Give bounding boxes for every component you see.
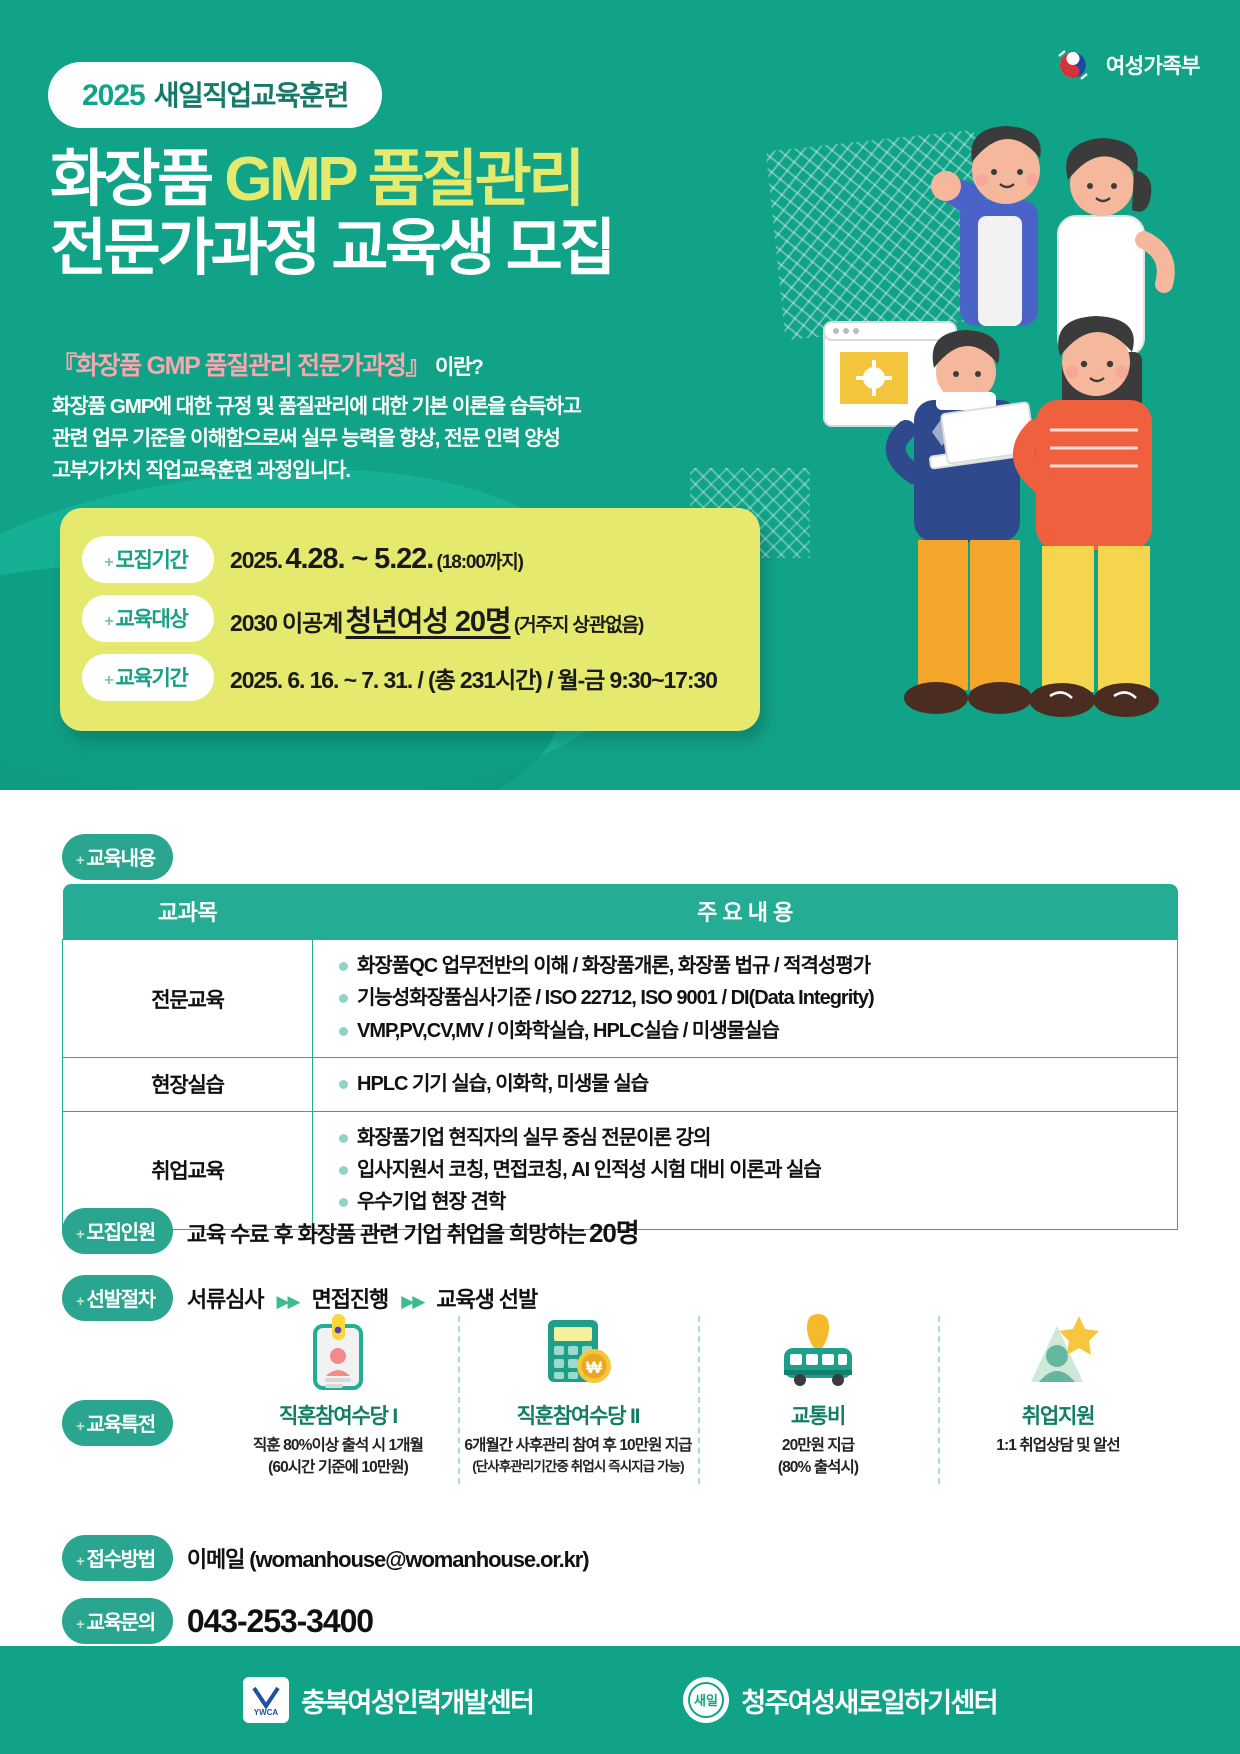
key-info-box: +모집기간 2025. 4.28. ~ 5.22. (18:00까지) +교육대… (60, 508, 760, 731)
info-value-recruit-period: 2025. 4.28. ~ 5.22. (18:00까지) (230, 543, 523, 576)
benefit-description: 1:1 취업상담 및 알선 (996, 1435, 1119, 1457)
list-item: VMP,PV,CV,MV / 이화학실습, HPLC실습 / 미생물실습 (337, 1015, 1177, 1047)
benefits-grid: 직훈참여수당 I 직훈 80%이상 출석 시 1개월 (60시간 기준에 10만… (218, 1312, 1178, 1502)
saeil-center-logo-icon: 새일 (683, 1677, 729, 1723)
apply-method-value: 이메일 (womanhouse@womanhouse.or.kr) (187, 1542, 589, 1574)
plus-icon: + (76, 1616, 83, 1633)
ministry-logo-group: 여성가족부 (1050, 42, 1200, 88)
table-header-subject: 교과목 (63, 884, 313, 940)
info-row-training-period: +교육기간 2025. 6. 16. ~ 7. 31. / (총 231시간) … (60, 648, 760, 707)
intro-question: 『화장품 GMP 품질관리 전문가과정』 이란? (52, 346, 483, 382)
intro-body: 화장품 GMP에 대한 규정 및 품질관리에 대한 기본 이론을 습득하고 관련… (52, 391, 581, 486)
info-row-target: +교육대상 2030 이공계 청년여성 20명 (거주지 상관없음) (60, 589, 760, 648)
benefit-item: ₩ 직훈참여수당 II 6개월간 사후관리 참여 후 10만원 지급 (단사후관… (458, 1312, 698, 1502)
benefit-desc-line-2: (80% 출석시) (778, 1457, 858, 1479)
table-header-content: 주 요 내 용 (313, 884, 1178, 940)
intro-question-highlight: 『화장품 GMP 품질관리 전문가과정』 (52, 352, 429, 380)
apply-method-row: +접수방법 이메일 (womanhouse@womanhouse.or.kr) (62, 1535, 588, 1581)
title-line-1-yellow: GMP 품질관리 (224, 145, 582, 214)
benefit-desc-line-1: 20만원 지급 (778, 1435, 858, 1457)
recruit-count-text: 교육 수료 후 화장품 관련 기업 취업을 희망하는 (187, 1222, 586, 1247)
footer-org-1: YWCA 충북여성인력개발센터 (243, 1677, 533, 1723)
recruit-count-row: +모집인원 교육 수료 후 화장품 관련 기업 취업을 희망하는 20명 (62, 1208, 639, 1254)
info-part-note: (거주지 상관없음) (514, 615, 643, 636)
info-chip-label: 교육기간 (115, 667, 187, 690)
table-cell-content: HPLC 기기 실습, 이화학, 미생물 실습 (313, 1058, 1178, 1111)
info-part-prefix: 2025. 6. 16. ~ 7. 31. / (총 231시간) / 월-금 … (230, 667, 717, 693)
person-star-badge-icon (1017, 1312, 1099, 1390)
benefit-desc-line-2: (단사후관리기간중 취업시 즉시지급 가능) (464, 1457, 691, 1476)
plus-icon: + (76, 1553, 83, 1570)
table-header-row: 교과목 주 요 내 용 (63, 884, 1178, 940)
intro-body-line-1: 화장품 GMP에 대한 규정 및 품질관리에 대한 기본 이론을 습득하고 (52, 391, 581, 423)
intro-question-suffix: 이란? (435, 356, 483, 379)
title-line-2: 전문가과정 교육생 모집 (50, 214, 613, 283)
plus-icon: + (76, 1293, 83, 1310)
info-value-training-period: 2025. 6. 16. ~ 7. 31. / (총 231시간) / 월-금 … (230, 661, 717, 695)
benefit-title: 직훈참여수당 II (517, 1400, 640, 1430)
poster-root: 여성가족부 2025 새일직업교육훈련 화장품 GMP 품질관리 전문가과정 교… (0, 0, 1240, 1754)
svg-text:₩: ₩ (586, 1358, 603, 1377)
section-chip-label: 모집인원 (86, 1222, 154, 1244)
table-row: 전문교육 화장품QC 업무전반의 이해 / 화장품개론, 화장품 법규 / 적격… (63, 940, 1178, 1058)
intro-body-line-3: 고부가가치 직업교육훈련 과정입니다. (52, 455, 581, 487)
section-chip-label: 교육내용 (86, 848, 154, 870)
footer-org-2: 새일 청주여성새로일하기센터 (683, 1677, 997, 1723)
benefit-desc-line-1: 직훈 80%이상 출석 시 1개월 (253, 1435, 423, 1457)
title-line-1: 화장품 GMP 품질관리 (50, 145, 613, 214)
benefit-description: 6개월간 사후관리 참여 후 10만원 지급 (단사후관리기간중 취업시 즉시지… (464, 1435, 691, 1476)
plus-icon: + (76, 852, 83, 869)
info-part-emphasis: 4.28. ~ 5.22. (285, 543, 433, 575)
selection-step-3: 교육생 선발 (436, 1287, 537, 1312)
selection-step-1: 서류심사 (187, 1287, 264, 1312)
intro-body-line-2: 관련 업무 기준을 이해함으로써 실무 능력을 향상, 전문 인력 양성 (52, 423, 581, 455)
section-chip-label: 교육문의 (86, 1612, 154, 1634)
curriculum-table: 교과목 주 요 내 용 전문교육 화장품QC 업무전반의 이해 / 화장품개론,… (62, 884, 1178, 1230)
section-chip-benefits: +교육특전 (62, 1400, 173, 1446)
plus-icon: + (104, 554, 112, 571)
plus-icon: + (104, 672, 112, 689)
svg-text:YWCA: YWCA (254, 1708, 279, 1717)
year-badge-year: 2025 (82, 79, 145, 113)
plus-icon: + (104, 613, 112, 630)
benefit-title: 직훈참여수당 I (279, 1400, 397, 1430)
table-cell-subject: 현장실습 (63, 1058, 313, 1111)
info-chip-training-period: +교육기간 (82, 654, 214, 701)
benefit-description: 직훈 80%이상 출석 시 1개월 (60시간 기준에 10만원) (253, 1435, 423, 1479)
year-badge: 2025 새일직업교육훈련 (48, 62, 382, 128)
info-chip-label: 교육대상 (115, 608, 187, 631)
svg-text:새일: 새일 (694, 1693, 718, 1708)
footer-org-name: 청주여성새로일하기센터 (741, 1681, 997, 1720)
benefit-item: 교통비 20만원 지급 (80% 출석시) (698, 1312, 938, 1502)
section-chip-label: 선발절차 (86, 1289, 154, 1311)
ministry-name: 여성가족부 (1106, 50, 1200, 80)
info-part-emphasis: 청년여성 20명 (346, 606, 511, 638)
info-chip-label: 모집기간 (115, 549, 187, 572)
contact-row: +교육문의 043-253-3400 (62, 1598, 373, 1644)
section-chip-recruit-count: +모집인원 (62, 1208, 173, 1254)
footer-org-name: 충북여성인력개발센터 (301, 1681, 533, 1720)
benefit-desc-line-2: (60시간 기준에 10만원) (253, 1457, 423, 1479)
info-part-note: (18:00까지) (437, 552, 523, 573)
title-line-1-white: 화장품 (50, 145, 211, 214)
benefit-item: 직훈참여수당 I 직훈 80%이상 출석 시 1개월 (60시간 기준에 10만… (218, 1312, 458, 1502)
double-chevron-right-icon: ▶▶ (401, 1292, 423, 1311)
info-value-target: 2030 이공계 청년여성 20명 (거주지 상관없음) (230, 598, 643, 640)
benefit-desc-line-1: 1:1 취업상담 및 알선 (996, 1435, 1119, 1457)
people-illustration (810, 100, 1230, 740)
recruit-count-value: 교육 수료 후 화장품 관련 기업 취업을 희망하는 20명 (187, 1213, 639, 1250)
plus-icon: + (76, 1226, 83, 1243)
info-chip-target: +교육대상 (82, 595, 214, 642)
section-chip-label: 접수방법 (86, 1549, 154, 1571)
list-item: 화장품기업 현직자의 실무 중심 전문이론 강의 (337, 1122, 1177, 1154)
recruit-count-number: 20명 (589, 1218, 639, 1248)
benefit-description: 20만원 지급 (80% 출석시) (778, 1435, 858, 1479)
selection-steps: 서류심사 ▶▶ 면접진행 ▶▶ 교육생 선발 (187, 1282, 537, 1314)
info-part-prefix: 2030 이공계 (230, 610, 342, 636)
section-chip-contact: +교육문의 (62, 1598, 173, 1644)
list-item: 화장품QC 업무전반의 이해 / 화장품개론, 화장품 법규 / 적격성평가 (337, 950, 1177, 982)
table-cell-content: 화장품QC 업무전반의 이해 / 화장품개론, 화장품 법규 / 적격성평가 기… (313, 940, 1178, 1058)
footer-panel: YWCA 충북여성인력개발센터 새일 청주여성새로일하기센터 (0, 1646, 1240, 1754)
table-cell-subject: 전문교육 (63, 940, 313, 1058)
benefit-title: 취업지원 (1022, 1400, 1094, 1430)
plus-icon: + (76, 1418, 83, 1435)
benefit-title: 교통비 (791, 1400, 845, 1430)
section-chip-selection: +선발절차 (62, 1275, 173, 1321)
id-card-badge-icon (305, 1312, 371, 1390)
info-row-recruit-period: +모집기간 2025. 4.28. ~ 5.22. (18:00까지) (60, 530, 760, 589)
section-chip-curriculum: +교육내용 (62, 834, 173, 880)
table-row: 현장실습 HPLC 기기 실습, 이화학, 미생물 실습 (63, 1058, 1178, 1111)
year-badge-text: 새일직업교육훈련 (154, 74, 348, 114)
info-part-prefix: 2025. (230, 547, 282, 573)
list-item: HPLC 기기 실습, 이화학, 미생물 실습 (337, 1068, 1177, 1100)
section-chip-apply-method: +접수방법 (62, 1535, 173, 1581)
contact-phone-number: 043-253-3400 (187, 1603, 373, 1640)
selection-step-2: 면접진행 (312, 1287, 389, 1312)
bus-icon (772, 1312, 864, 1390)
benefit-item: 취업지원 1:1 취업상담 및 알선 (938, 1312, 1178, 1502)
list-item: 기능성화장품심사기준 / ISO 22712, ISO 9001 / DI(Da… (337, 982, 1177, 1014)
page-title: 화장품 GMP 품질관리 전문가과정 교육생 모집 (50, 145, 613, 284)
section-chip-label: 교육특전 (86, 1414, 154, 1436)
list-item: 입사지원서 코칭, 면접코칭, AI 인적성 시험 대비 이론과 실습 (337, 1154, 1177, 1186)
info-chip-recruit-period: +모집기간 (82, 536, 214, 583)
korea-government-taegeuk-icon (1050, 42, 1096, 88)
ywca-logo-icon: YWCA (243, 1677, 289, 1723)
benefit-desc-line-1: 6개월간 사후관리 참여 후 10만원 지급 (464, 1435, 691, 1457)
double-chevron-right-icon: ▶▶ (276, 1292, 298, 1311)
person-waving-illustration (931, 126, 1041, 326)
calculator-won-coin-icon: ₩ (540, 1312, 616, 1390)
